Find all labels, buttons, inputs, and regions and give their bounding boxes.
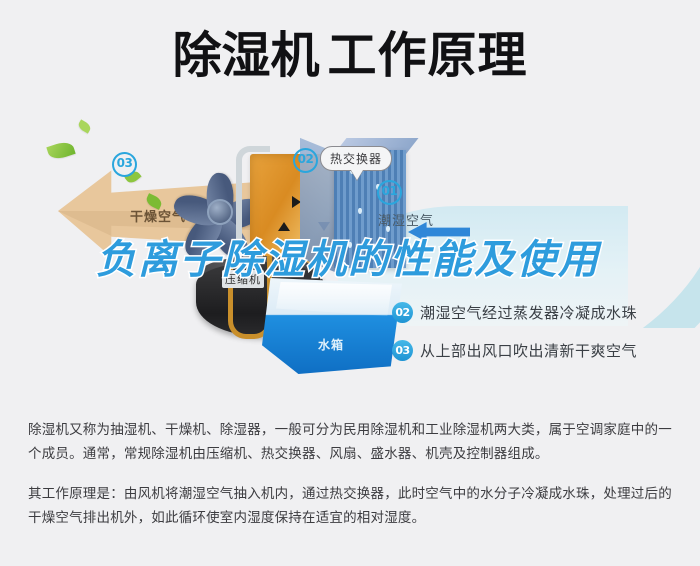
legend-badge-02: 02 xyxy=(392,302,413,323)
infographic-page: 除湿机工作原理 干燥空气 xyxy=(0,0,700,566)
legend-item: 03 从上部出风口吹出清新干爽空气 xyxy=(392,340,692,361)
legend-item: 02 潮湿空气经过蒸发器冷凝成水珠 xyxy=(392,302,692,323)
title-text: 除湿机工作原理 xyxy=(172,26,527,86)
paragraph-2: 其工作原理是：由风机将潮湿空气抽入机内，通过热交换器，此时空气中的水分子冷凝成水… xyxy=(28,482,674,530)
legend-list: 02 潮湿空气经过蒸发器冷凝成水珠 03 从上部出风口吹出清新干爽空气 xyxy=(392,302,692,378)
leaf-icon xyxy=(77,119,93,133)
humid-air-label: 潮湿空气 xyxy=(378,210,434,229)
legend-text-03: 从上部出风口吹出清新干爽空气 xyxy=(420,340,637,361)
heat-exchanger-callout: 热交换器 xyxy=(320,146,392,171)
title-part-2: 工作原理 xyxy=(328,27,528,84)
paragraph-1: 除湿机又称为抽湿机、干燥机、除湿器，一般可分为民用除湿机和工业除湿机两大类，属于… xyxy=(28,418,674,466)
fan-hub xyxy=(207,199,233,225)
title-part-1: 除湿机 xyxy=(172,27,319,84)
diagram-badge-01: 01 xyxy=(377,180,402,205)
body-copy: 除湿机又称为抽湿机、干燥机、除湿器，一般可分为民用除湿机和工业除湿机两大类，属于… xyxy=(28,418,674,530)
legend-text-02: 潮湿空气经过蒸发器冷凝成水珠 xyxy=(420,302,637,323)
page-title: 除湿机工作原理 xyxy=(0,26,700,86)
diagram-badge-02: 02 xyxy=(293,148,318,173)
water-tank-label: 水箱 xyxy=(318,336,344,353)
legend-badge-03: 03 xyxy=(392,340,413,361)
flow-arrow-icon xyxy=(278,222,290,231)
diagram-badge-03: 03 xyxy=(112,152,137,177)
overlay-headline: 负离子除湿机的性能及使用 xyxy=(96,236,636,284)
leaf-icon xyxy=(46,139,75,161)
